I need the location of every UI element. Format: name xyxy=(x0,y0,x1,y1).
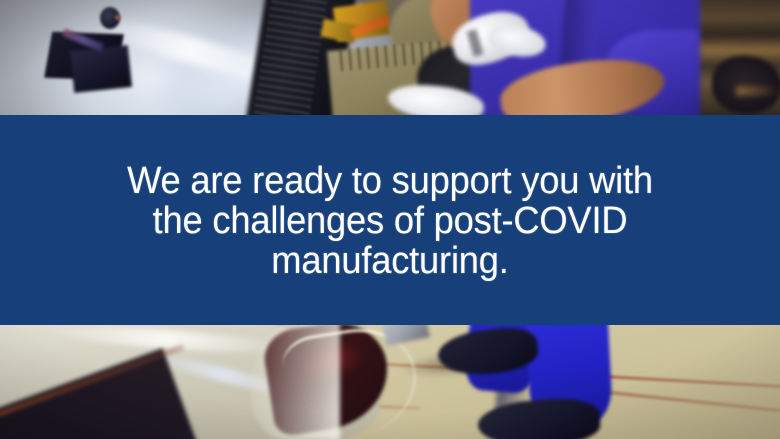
shelf-dark-object xyxy=(712,56,780,114)
shelf-warm-glow xyxy=(736,86,780,96)
dark-component-wedge-secondary xyxy=(70,45,132,93)
bolt-hole-specular xyxy=(115,15,120,20)
headline-line-3: manufacturing. xyxy=(18,241,763,281)
headline-text-block: We are ready to support you with the cha… xyxy=(18,159,763,281)
slide-frame: We are ready to support you with the cha… xyxy=(0,0,780,439)
headline-line-2: the challenges of post-COVID xyxy=(18,201,763,241)
headline-line-1: We are ready to support you with xyxy=(18,161,763,201)
headline-banner: We are ready to support you with the cha… xyxy=(0,115,780,325)
